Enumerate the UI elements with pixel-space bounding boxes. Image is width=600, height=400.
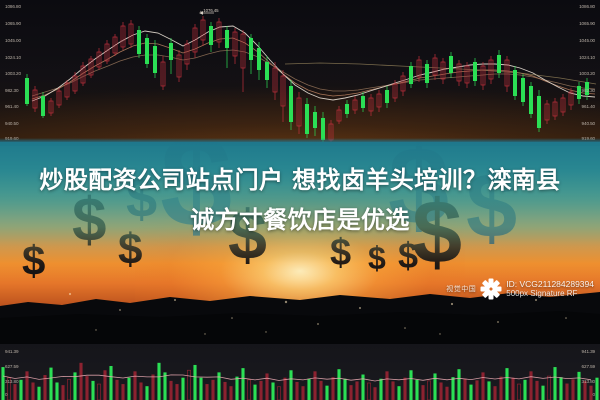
volume-bar xyxy=(127,378,130,400)
volume-bar xyxy=(541,386,544,400)
volume-ytick-right-1: 627.59 xyxy=(582,364,595,369)
volume-bar-series xyxy=(1,363,598,400)
volume-bar xyxy=(133,371,136,400)
volume-bar xyxy=(571,379,574,400)
volume-bar xyxy=(529,371,532,400)
banner-title-line-1: 炒股配资公司站点门户 想找卤羊头培训？滦南县 xyxy=(12,160,588,200)
volume-bar xyxy=(421,385,424,400)
volume-bar xyxy=(439,382,442,400)
volume-bar xyxy=(241,368,244,400)
price-chart-svg xyxy=(0,0,600,142)
volume-bar xyxy=(517,384,520,400)
volume-bar xyxy=(325,386,328,400)
volume-bar xyxy=(505,368,508,400)
price-ytick-left-6: 961.40 xyxy=(5,104,18,109)
volume-bar xyxy=(37,387,40,400)
volume-bar xyxy=(337,369,340,400)
volume-bar xyxy=(193,365,196,400)
volume-bar xyxy=(367,383,370,400)
banner-title-line-2: 诚方寸餐饮店是优选 xyxy=(12,200,588,240)
volume-bar xyxy=(277,387,280,400)
volume-ytick-right-2: 313.80 xyxy=(582,379,595,384)
volume-bar xyxy=(253,385,256,400)
volume-bar xyxy=(565,384,568,400)
ma-line-slow xyxy=(32,50,595,96)
volume-bar xyxy=(457,369,460,400)
watermark-text-block: ID: VCG211284289394 500px Signature RF xyxy=(506,279,594,300)
volume-bar xyxy=(373,387,376,400)
volume-bar xyxy=(289,370,292,400)
volume-bar xyxy=(385,371,388,400)
volume-bar xyxy=(445,387,448,400)
price-ytick-left-0: 1086.80 xyxy=(5,4,21,9)
volume-bar xyxy=(403,378,406,400)
volume-bar xyxy=(19,380,22,400)
volume-bar xyxy=(109,366,112,400)
price-ytick-right-6: 961.40 xyxy=(582,104,595,109)
volume-bar xyxy=(307,379,310,400)
volume-bar xyxy=(295,382,298,400)
price-chart-panel: 1086.80 1065.90 1045.00 1024.10 1003.20 … xyxy=(0,0,600,142)
volume-bar xyxy=(553,367,556,400)
price-ytick-right-4: 1003.20 xyxy=(579,71,595,76)
volume-bar xyxy=(139,382,142,400)
volume-bar xyxy=(115,380,118,400)
volume-bar xyxy=(163,372,166,400)
volume-bar xyxy=(343,379,346,400)
volume-bar xyxy=(331,377,334,400)
volume-bar xyxy=(247,380,250,400)
volume-bar xyxy=(25,371,28,400)
volume-bar xyxy=(169,381,172,400)
volume-bar xyxy=(313,371,316,400)
price-ytick-left-5: 982.30 xyxy=(5,88,18,93)
volume-bar xyxy=(187,370,190,400)
volume-bar xyxy=(361,375,364,400)
volume-bar xyxy=(511,378,514,400)
volume-bar xyxy=(301,386,304,400)
volume-chart-panel: 941.39 627.59 313.80 0 941.39 627.59 313… xyxy=(0,344,600,400)
volume-bar xyxy=(91,381,94,400)
price-ytick-left-4: 1003.20 xyxy=(5,71,21,76)
volume-bar xyxy=(397,386,400,400)
price-ytick-right-7: 940.50 xyxy=(582,121,595,126)
volume-bar xyxy=(499,377,502,400)
price-ytick-left-3: 1024.10 xyxy=(5,55,21,60)
volume-bar xyxy=(451,377,454,400)
volume-bar xyxy=(409,370,412,400)
volume-ytick-right-0: 941.39 xyxy=(582,349,595,354)
volume-bar xyxy=(205,384,208,400)
volume-bar xyxy=(595,378,598,400)
volume-bar xyxy=(265,373,268,400)
volume-bar xyxy=(577,372,580,400)
volume-bar xyxy=(559,377,562,400)
volume-bar xyxy=(481,372,484,400)
volume-bar xyxy=(463,379,466,400)
volume-bar xyxy=(211,380,214,400)
volume-bar xyxy=(259,381,262,400)
volume-ytick-left-0: 941.39 xyxy=(5,349,18,354)
volume-bar xyxy=(157,363,160,400)
volume-bar xyxy=(433,373,436,400)
volume-ytick-left-3: 0 xyxy=(5,392,7,397)
price-ytick-right-5: 982.30 xyxy=(582,88,595,93)
volume-bar xyxy=(349,385,352,400)
volume-bar xyxy=(229,386,232,400)
volume-bar xyxy=(181,378,184,400)
watermark-license: 500px Signature RF xyxy=(506,289,594,299)
volume-bar xyxy=(151,375,154,400)
volume-bar xyxy=(61,385,64,400)
volume-bar xyxy=(535,381,538,400)
volume-bar xyxy=(427,381,430,400)
volume-bar xyxy=(355,381,358,400)
volume-bar xyxy=(523,380,526,400)
price-ytick-right-3: 1024.10 xyxy=(579,55,595,60)
volume-bar xyxy=(391,381,394,400)
volume-bar xyxy=(223,382,226,400)
volume-bar xyxy=(121,384,124,400)
volume-bar xyxy=(271,382,274,400)
volume-bar xyxy=(103,370,106,400)
volume-bar xyxy=(319,381,322,400)
banner-image: 1086.80 1065.90 1045.00 1024.10 1003.20 … xyxy=(0,0,600,400)
volume-bar xyxy=(31,382,34,400)
volume-bar xyxy=(67,379,70,400)
price-ytick-right-0: 1086.80 xyxy=(579,4,595,9)
burst-icon xyxy=(480,278,502,300)
volume-bar xyxy=(283,378,286,400)
price-ytick-left-7: 940.50 xyxy=(5,121,18,126)
peak-annotation-label: ←1076.45 xyxy=(199,8,218,13)
volume-bar xyxy=(475,380,478,400)
volume-bar xyxy=(79,363,82,400)
watermark-brand-label: 视觉中国 xyxy=(446,284,476,294)
volume-ytick-left-2: 313.80 xyxy=(5,379,18,384)
volume-bar xyxy=(235,377,238,400)
volume-ma-line xyxy=(3,375,591,381)
candlestick-series xyxy=(25,16,589,142)
volume-bar xyxy=(199,378,202,400)
volume-bar xyxy=(13,384,16,400)
stock-photo-watermark: 视觉中国 ID: VCG211284289394 500px Signature… xyxy=(446,278,594,300)
ma-line-mid xyxy=(32,38,595,99)
volume-bar xyxy=(85,376,88,400)
volume-bar xyxy=(49,368,52,400)
watermark-id: ID: VCG211284289394 xyxy=(506,279,594,290)
volume-bar xyxy=(55,382,58,400)
volume-ytick-right-3: 0 xyxy=(593,392,595,397)
banner-title: 炒股配资公司站点门户 想找卤羊头培训？滦南县 诚方寸餐饮店是优选 xyxy=(0,160,600,240)
volume-bar xyxy=(97,384,100,400)
volume-bar xyxy=(469,385,472,400)
price-ytick-right-2: 1045.00 xyxy=(579,38,595,43)
volume-bar xyxy=(487,381,490,400)
price-ytick-left-1: 1065.90 xyxy=(5,21,21,26)
volume-bar xyxy=(379,379,382,400)
panel-seam-divider xyxy=(0,138,600,146)
volume-bar xyxy=(175,384,178,400)
volume-bar xyxy=(493,386,496,400)
volume-bar xyxy=(547,376,550,400)
price-ytick-right-1: 1065.90 xyxy=(579,21,595,26)
volume-ytick-left-1: 627.59 xyxy=(5,364,18,369)
volume-chart-svg xyxy=(0,344,600,400)
price-ytick-left-2: 1045.00 xyxy=(5,38,21,43)
volume-bar xyxy=(145,386,148,400)
volume-bar xyxy=(415,380,418,400)
